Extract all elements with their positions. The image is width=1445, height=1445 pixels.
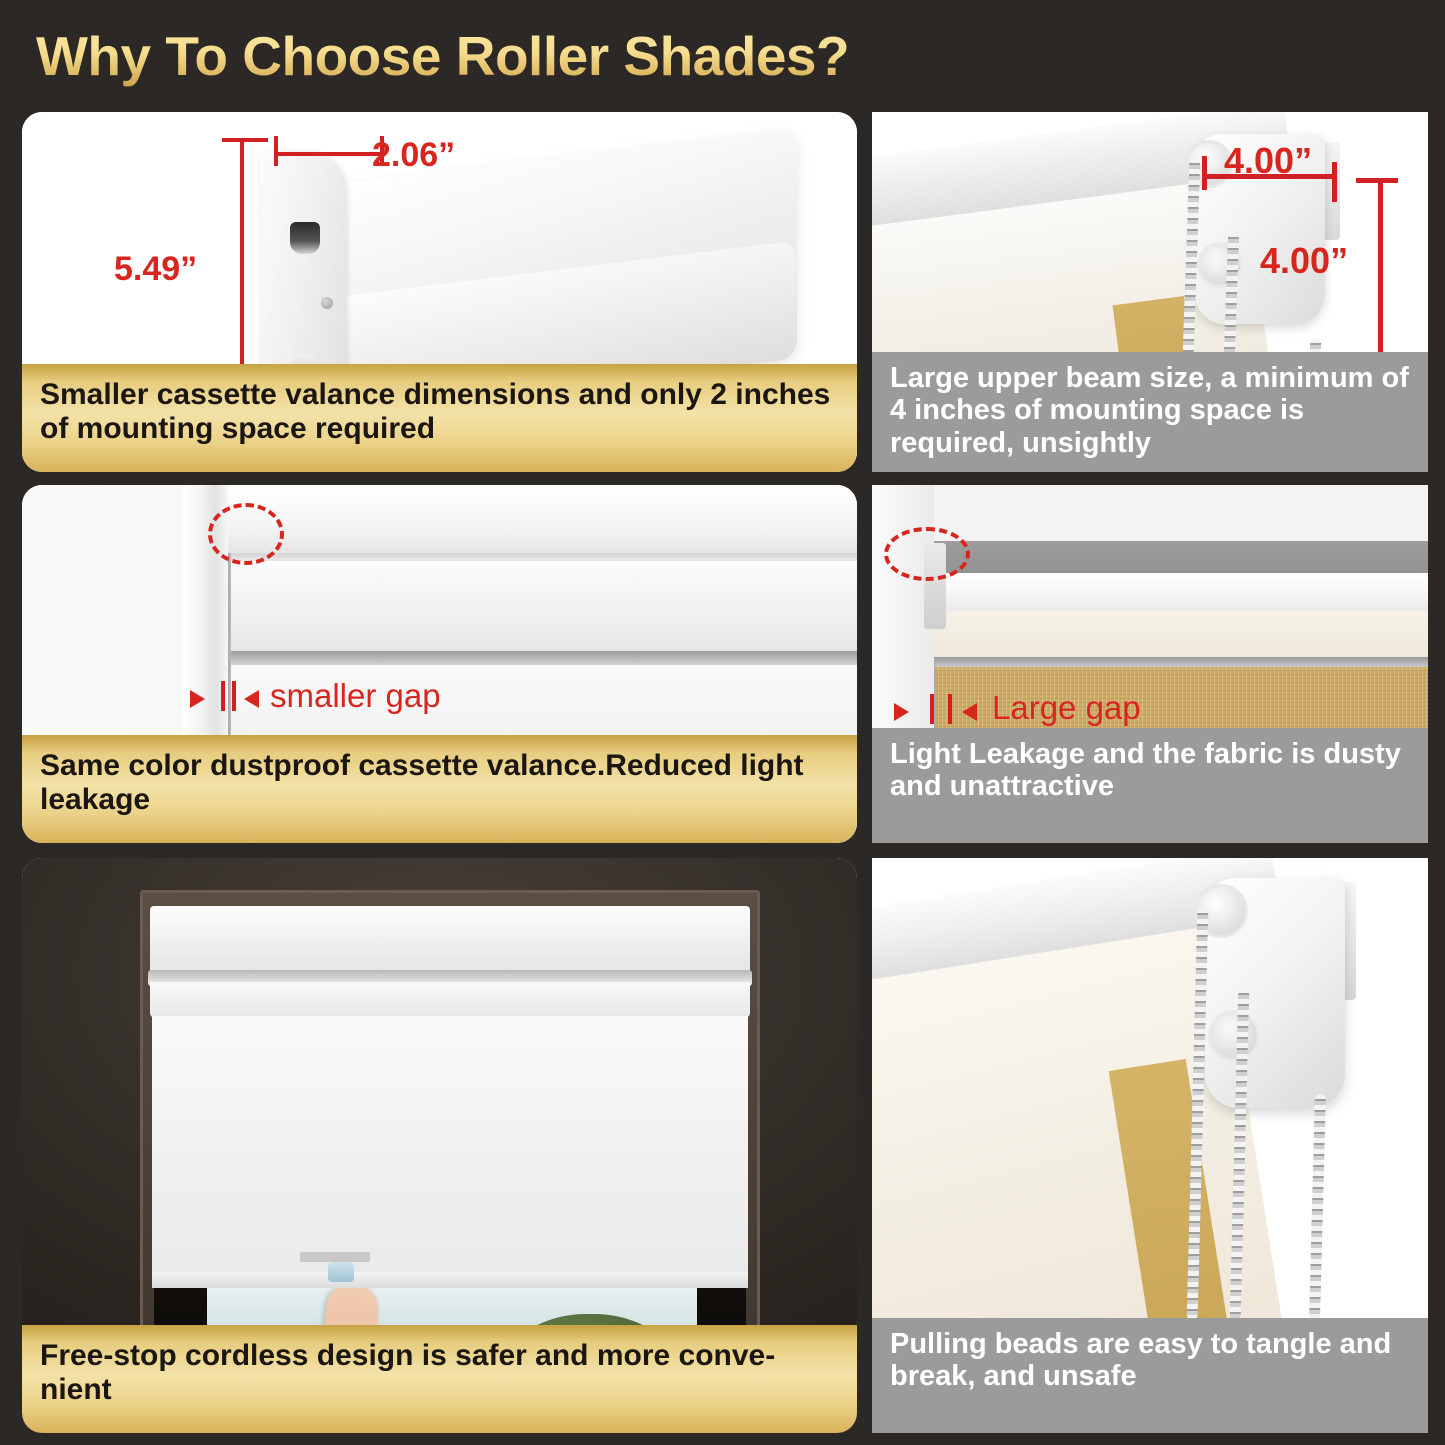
large-gap-label: Large gap — [992, 689, 1141, 727]
panel-large-upper-beam: 4.00” 4.00” Large upper beam size, a min… — [872, 112, 1428, 472]
width-dimension-tick-left — [274, 136, 278, 166]
caption-free-stop-cordless: Free-stop cordless design is safer and m… — [22, 1325, 857, 1433]
gap-tick-left — [221, 681, 225, 711]
roller-end-disc-lower — [1208, 1010, 1260, 1062]
gap-arrow-left-icon — [244, 690, 259, 708]
beam-width-tick-left — [1202, 156, 1207, 190]
width-dimension-label: 2.06” — [372, 136, 455, 175]
gap-tick-left — [930, 694, 934, 724]
pull-tab — [328, 1262, 354, 1282]
caption-dustproof-cassette-valance: Same color dustproof cassette valance.Re… — [22, 735, 857, 843]
panel-light-leakage: Large gap Light Leakage and the fabric i… — [872, 485, 1428, 843]
smaller-gap-label: smaller gap — [270, 677, 441, 715]
valance-screw-icon — [321, 297, 333, 309]
highlight-circle-icon — [208, 503, 284, 565]
infographic-page: Why To Choose Roller Shades? 2.06” 5.49”… — [0, 0, 1445, 1445]
gap-tick-right — [232, 681, 236, 711]
cassette-valance-top — [150, 906, 750, 978]
gap-arrow-left-icon — [962, 703, 977, 721]
beam-width-tick-right — [1332, 162, 1337, 202]
brand-logo — [300, 1252, 370, 1262]
height-dimension-tick-top — [222, 138, 268, 142]
highlight-circle-icon — [884, 527, 970, 581]
height-dimension-label: 5.49” — [114, 250, 197, 289]
panel-dustproof-cassette-valance: smaller gap Same color dustproof cassett… — [22, 485, 857, 843]
gap-arrow-right-icon — [894, 703, 909, 721]
panel-pulling-beads: Pulling beads are easy to tangle and bre… — [872, 858, 1428, 1433]
valance-face — [230, 561, 857, 661]
beam-height-tick-top — [1356, 178, 1398, 183]
caption-light-leakage: Light Leakage and the fabric is dusty an… — [872, 728, 1428, 843]
caption-pulling-beads: Pulling beads are easy to tangle and bre… — [872, 1318, 1428, 1433]
caption-large-upper-beam: Large upper beam size, a minimum of 4 in… — [872, 352, 1428, 472]
shade-fabric — [152, 1016, 748, 1276]
gap-arrow-right-icon — [190, 690, 205, 708]
valance-lower — [930, 611, 1428, 659]
beam-width-label: 4.00” — [1224, 140, 1312, 182]
beam-height-dimension-line — [1378, 178, 1383, 360]
width-dimension-line — [274, 152, 384, 156]
hem-bar — [152, 1272, 748, 1288]
window-frame-top — [182, 485, 857, 553]
caption-cassette-valance-dimensions: Smaller cassette valance dimensions and … — [22, 364, 857, 472]
gap-tick-right — [948, 694, 952, 724]
panel-free-stop-cordless: Free-stop cordless design is safer and m… — [22, 858, 857, 1433]
valance-lower — [150, 982, 750, 1018]
beam-height-label: 4.00” — [1260, 240, 1348, 282]
panel-cassette-valance-dimensions: 2.06” 5.49” Smaller cassette valance dim… — [22, 112, 857, 472]
valance-slot — [290, 222, 320, 254]
page-title: Why To Choose Roller Shades? — [36, 24, 849, 88]
